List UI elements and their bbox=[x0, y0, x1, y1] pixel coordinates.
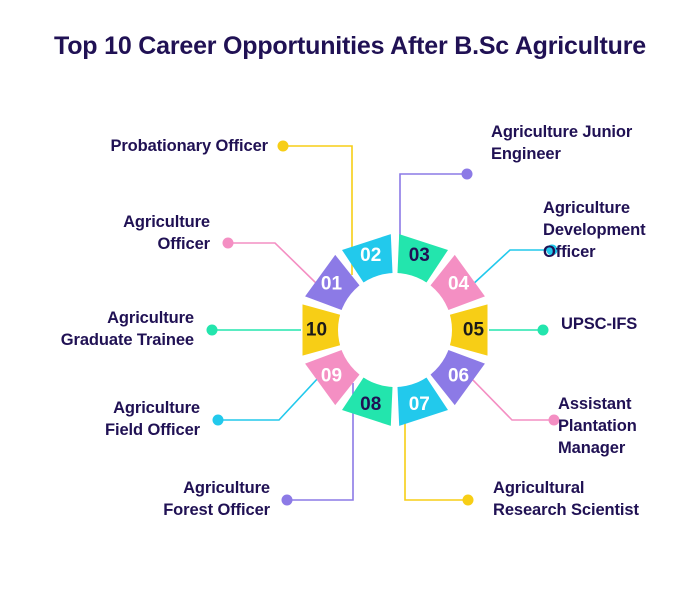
donut-hole bbox=[338, 273, 452, 387]
donut-segment-05-number: 05 bbox=[463, 320, 485, 341]
connector-dot-06 bbox=[282, 495, 293, 506]
connector-dot-01 bbox=[462, 169, 473, 180]
callout-label-05-line1: Agricultural bbox=[493, 478, 698, 500]
donut-segment-01-number: 01 bbox=[321, 273, 343, 294]
callout-label-06-line2: Forest Officer bbox=[62, 500, 270, 522]
callout-label-05-line2: Research Scientist bbox=[493, 500, 698, 522]
callout-label-02-line1: Agriculture bbox=[543, 198, 700, 220]
callout-label-07-line2: Field Officer bbox=[20, 420, 200, 442]
donut-segment-10-number: 10 bbox=[306, 320, 327, 341]
donut-segment-09-number: 09 bbox=[321, 366, 342, 387]
callout-label-10[interactable]: Probationary Officer bbox=[42, 136, 268, 158]
callout-label-06-line1: Agriculture bbox=[62, 478, 270, 500]
callout-label-04-line2: Plantation bbox=[558, 416, 698, 438]
donut-segment-03-number: 03 bbox=[409, 245, 430, 266]
connector-dot-09 bbox=[223, 238, 234, 249]
connector-dot-07 bbox=[213, 415, 224, 426]
connector-line-09 bbox=[228, 243, 318, 285]
donut-segment-04-number: 04 bbox=[448, 273, 470, 294]
callout-label-08-line1: Agriculture bbox=[12, 308, 194, 330]
callout-label-08-line2: Graduate Trainee bbox=[12, 330, 194, 352]
callout-label-04-line1: Assistant bbox=[558, 394, 698, 416]
callout-label-04-line3: Manager bbox=[558, 438, 698, 460]
callout-label-06[interactable]: Agriculture Forest Officer bbox=[62, 478, 270, 522]
callout-label-09-line1: Agriculture bbox=[50, 212, 210, 234]
callout-label-02-line2: Development bbox=[543, 220, 700, 242]
callout-label-04[interactable]: Assistant Plantation Manager bbox=[558, 394, 698, 460]
callout-label-07-line1: Agriculture bbox=[20, 398, 200, 420]
callout-label-05[interactable]: Agricultural Research Scientist bbox=[493, 478, 698, 522]
connector-dot-05 bbox=[463, 495, 474, 506]
callout-label-07[interactable]: Agriculture Field Officer bbox=[20, 398, 200, 442]
callout-label-01-line2: Engineer bbox=[491, 144, 691, 166]
callout-label-01-line1: Agriculture Junior bbox=[491, 122, 691, 144]
connector-line-10 bbox=[283, 146, 352, 275]
donut-segment-08-number: 08 bbox=[360, 394, 381, 415]
connector-dot-08 bbox=[207, 325, 218, 336]
connector-dot-03 bbox=[538, 325, 549, 336]
donut-segment-02-number: 02 bbox=[360, 245, 381, 266]
callout-label-10-line1: Probationary Officer bbox=[42, 136, 268, 158]
callout-label-09[interactable]: Agriculture Officer bbox=[50, 212, 210, 256]
connector-dot-10 bbox=[278, 141, 289, 152]
callout-label-08[interactable]: Agriculture Graduate Trainee bbox=[12, 308, 194, 352]
callout-label-02-line3: Officer bbox=[543, 242, 700, 264]
callout-label-03-line1: UPSC-IFS bbox=[561, 314, 696, 336]
callout-label-01[interactable]: Agriculture Junior Engineer bbox=[491, 122, 691, 166]
infographic-canvas: Top 10 Career Opportunities After B.Sc A… bbox=[0, 0, 700, 600]
callout-label-09-line2: Officer bbox=[50, 234, 210, 256]
callout-label-02[interactable]: Agriculture Development Officer bbox=[543, 198, 700, 264]
connector-line-04 bbox=[470, 377, 554, 420]
callout-label-03[interactable]: UPSC-IFS bbox=[561, 314, 696, 336]
donut-segment-06-number: 06 bbox=[448, 366, 469, 387]
connector-line-07 bbox=[218, 377, 319, 420]
donut-segment-07-number: 07 bbox=[409, 394, 430, 415]
connector-line-02 bbox=[471, 250, 552, 286]
